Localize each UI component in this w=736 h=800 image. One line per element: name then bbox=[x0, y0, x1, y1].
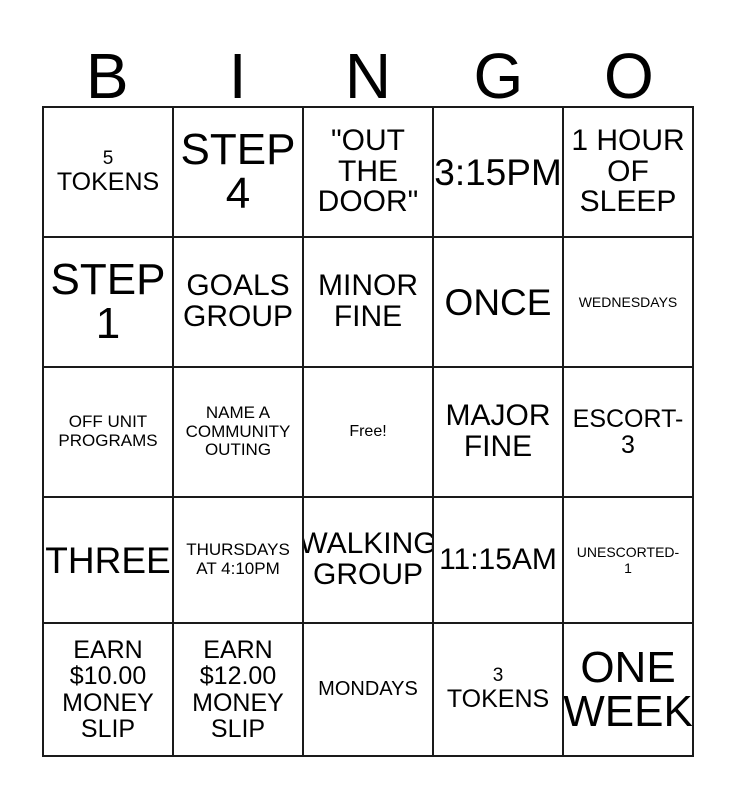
bingo-card: BINGO 5TOKENSSTEP4"OUTTHEDOOR"3:15PM1 HO… bbox=[0, 0, 736, 800]
bingo-header-letter-n: N bbox=[303, 22, 433, 106]
bingo-cell-line: NAME A bbox=[206, 404, 270, 423]
bingo-cell[interactable]: MINORFINE bbox=[304, 238, 434, 368]
bingo-cell[interactable]: "OUTTHEDOOR" bbox=[304, 108, 434, 238]
bingo-header-letter-o: O bbox=[564, 22, 694, 106]
bingo-cell[interactable]: 1 HOUROFSLEEP bbox=[564, 108, 694, 238]
bingo-cell[interactable]: WALKINGGROUP bbox=[304, 498, 434, 624]
bingo-cell[interactable]: STEP1 bbox=[44, 238, 174, 368]
bingo-cell-line: Free! bbox=[349, 424, 386, 440]
bingo-cell-line: "OUT bbox=[331, 126, 405, 157]
bingo-header-letter-g: G bbox=[433, 22, 563, 106]
bingo-cell-line: EARN bbox=[203, 637, 272, 663]
bingo-cell-line: COMMUNITY bbox=[186, 423, 291, 442]
bingo-cell-line: ONCE bbox=[445, 284, 552, 321]
bingo-header-letter-i: I bbox=[172, 22, 302, 106]
bingo-cell-line: SLIP bbox=[81, 716, 135, 742]
bingo-header-letter-b: B bbox=[42, 22, 172, 106]
bingo-cell-line: $10.00 bbox=[70, 663, 146, 689]
bingo-cell[interactable]: THREE bbox=[44, 498, 174, 624]
bingo-cell[interactable]: NAME ACOMMUNITYOUTING bbox=[174, 368, 304, 498]
bingo-cell-line: OUTING bbox=[205, 441, 271, 460]
bingo-cell[interactable]: 5TOKENS bbox=[44, 108, 174, 238]
bingo-cell-line: AT 4:10PM bbox=[196, 560, 279, 579]
bingo-cell-line: $12.00 bbox=[200, 663, 276, 689]
bingo-cell[interactable]: UNESCORTED-1 bbox=[564, 498, 694, 624]
bingo-cell-line: THREE bbox=[45, 542, 170, 579]
bingo-cell[interactable]: 11:15AM bbox=[434, 498, 564, 624]
bingo-cell-line: UNESCORTED- bbox=[577, 544, 679, 560]
bingo-cell[interactable]: 3TOKENS bbox=[434, 624, 564, 757]
bingo-cell-line: SLEEP bbox=[580, 187, 677, 218]
bingo-cell-line: 3 bbox=[493, 666, 504, 686]
bingo-cell[interactable]: STEP4 bbox=[174, 108, 304, 238]
bingo-cell-line: 3:15PM bbox=[434, 154, 562, 191]
bingo-cell[interactable]: EARN$12.00MONEYSLIP bbox=[174, 624, 304, 757]
bingo-cell-line: THE bbox=[338, 157, 398, 188]
bingo-cell-line: 5 bbox=[103, 149, 114, 169]
bingo-cell[interactable]: ESCORT-3 bbox=[564, 368, 694, 498]
bingo-cell-line: PROGRAMS bbox=[58, 432, 157, 451]
bingo-cell-line: ESCORT- bbox=[573, 406, 684, 432]
bingo-cell-line: 4 bbox=[226, 172, 250, 216]
bingo-cell[interactable]: WEDNESDAYS bbox=[564, 238, 694, 368]
bingo-cell-line: OF bbox=[607, 157, 649, 188]
bingo-cell-line: SLIP bbox=[211, 716, 265, 742]
bingo-cell-line: MONEY bbox=[62, 690, 154, 716]
bingo-cell-line: GOALS bbox=[186, 271, 289, 302]
bingo-header: BINGO bbox=[42, 22, 694, 106]
bingo-cell-line: MINOR bbox=[318, 271, 418, 302]
bingo-cell[interactable]: MONDAYS bbox=[304, 624, 434, 757]
bingo-cell-line: FINE bbox=[464, 432, 532, 463]
bingo-cell-line: GROUP bbox=[183, 302, 293, 333]
bingo-cell-line: 1 HOUR bbox=[571, 126, 684, 157]
bingo-cell-line: WEEK bbox=[564, 690, 693, 734]
bingo-cell-line: TOKENS bbox=[447, 686, 549, 712]
bingo-cell-line: 3 bbox=[621, 432, 635, 458]
bingo-cell[interactable]: OFF UNITPROGRAMS bbox=[44, 368, 174, 498]
bingo-cell-line: 11:15AM bbox=[439, 545, 557, 576]
bingo-cell-line: WALKING bbox=[304, 529, 434, 560]
bingo-cell-line: FINE bbox=[334, 302, 402, 333]
bingo-cell-line: DOOR" bbox=[318, 187, 419, 218]
bingo-cell-line: ONE bbox=[580, 646, 675, 690]
bingo-cell-line: STEP bbox=[181, 128, 296, 172]
bingo-cell-line: GROUP bbox=[313, 560, 423, 591]
bingo-cell-line: THURSDAYS bbox=[186, 541, 290, 560]
bingo-cell-line: 1 bbox=[624, 560, 632, 576]
bingo-cell-line: EARN bbox=[73, 637, 142, 663]
bingo-cell-line: OFF UNIT bbox=[69, 413, 147, 432]
bingo-cell[interactable]: ONEWEEK bbox=[564, 624, 694, 757]
bingo-cell[interactable]: EARN$10.00MONEYSLIP bbox=[44, 624, 174, 757]
bingo-cell-line: MAJOR bbox=[446, 401, 551, 432]
bingo-cell[interactable]: THURSDAYSAT 4:10PM bbox=[174, 498, 304, 624]
bingo-cell-line: MONDAYS bbox=[318, 679, 418, 701]
bingo-cell[interactable]: 3:15PM bbox=[434, 108, 564, 238]
bingo-cell[interactable]: MAJORFINE bbox=[434, 368, 564, 498]
bingo-cell-line: STEP bbox=[51, 258, 166, 302]
bingo-cell[interactable]: ONCE bbox=[434, 238, 564, 368]
bingo-grid: 5TOKENSSTEP4"OUTTHEDOOR"3:15PM1 HOUROFSL… bbox=[42, 106, 694, 757]
bingo-cell-line: TOKENS bbox=[57, 169, 159, 195]
bingo-cell[interactable]: GOALSGROUP bbox=[174, 238, 304, 368]
bingo-cell-line: MONEY bbox=[192, 690, 284, 716]
bingo-cell-line: WEDNESDAYS bbox=[579, 294, 678, 310]
bingo-cell-line: 1 bbox=[96, 302, 120, 346]
bingo-free-space[interactable]: Free! bbox=[304, 368, 434, 498]
